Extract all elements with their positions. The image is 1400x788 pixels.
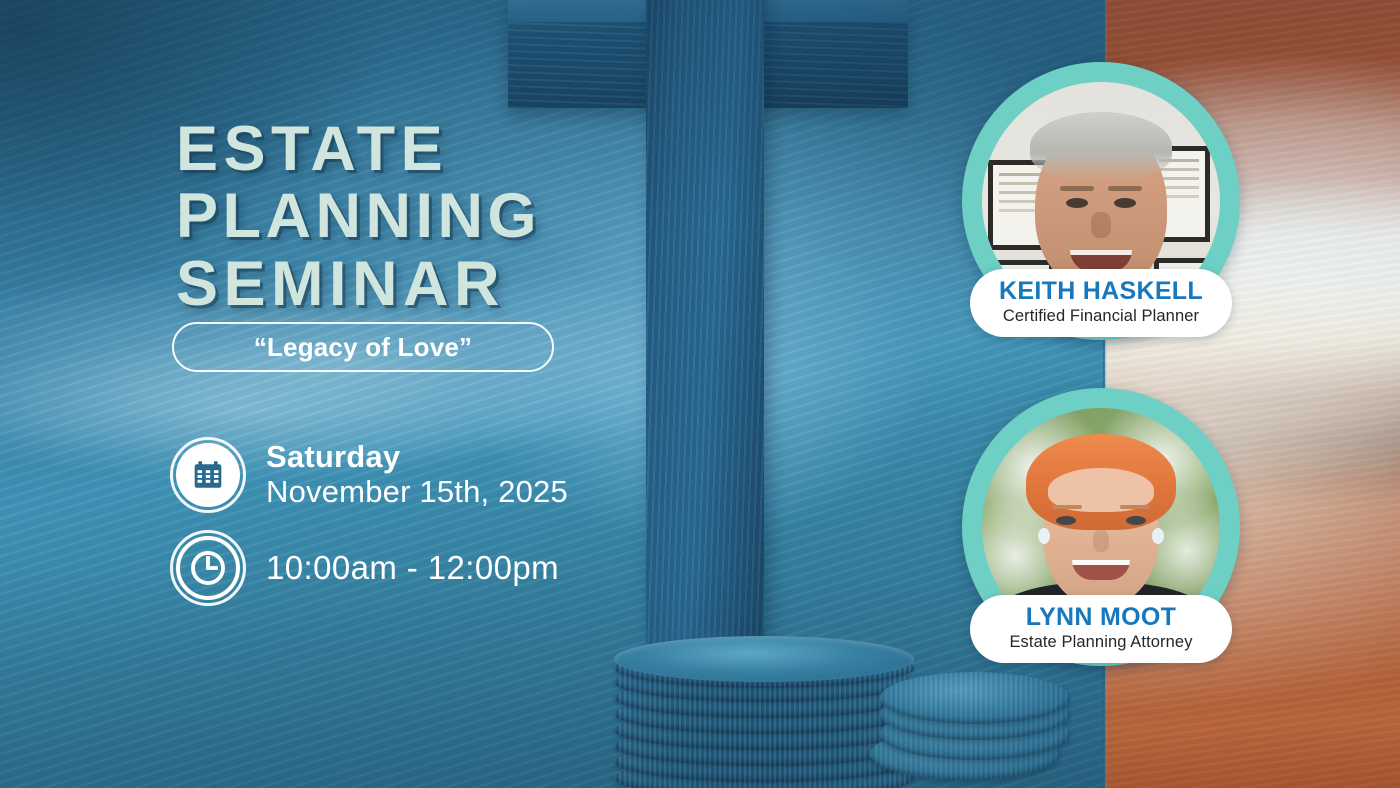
estate-planning-seminar-poster: ESTATE PLANNING SEMINAR “Legacy of Love” [0,0,1400,788]
speaker-title: Certified Financial Planner [980,307,1222,326]
avatar-hair [1030,112,1172,180]
avatar-nose [1091,212,1111,238]
tagline-pill: “Legacy of Love” [172,322,554,372]
avatar-earring [1038,528,1050,544]
event-date-full: November 15th, 2025 [266,475,568,510]
avatar-earring [1152,528,1164,544]
event-time-row: 10:00am - 12:00pm [176,536,559,600]
speaker-nameplate: LYNN MOOT Estate Planning Attorney [970,595,1232,663]
clock-icon [176,536,240,600]
avatar-eye [1056,516,1076,525]
avatar-nose [1093,530,1109,552]
speaker-card-keith-haskell: KEITH HASKELL Certified Financial Planne… [962,62,1240,340]
avatar-eye [1126,516,1146,525]
headline-line-3: SEMINAR [176,251,796,318]
avatar-eyebrow [1120,505,1150,509]
event-time-text: 10:00am - 12:00pm [266,549,559,587]
avatar-hair [1026,434,1176,530]
speaker-card-lynn-moot: LYNN MOOT Estate Planning Attorney [962,388,1240,666]
avatar-eyebrow [1108,186,1142,191]
event-day-of-week: Saturday [266,440,568,475]
speaker-title: Estate Planning Attorney [980,633,1222,652]
avatar-eye [1114,198,1136,208]
speaker-nameplate: KEITH HASKELL Certified Financial Planne… [970,269,1232,337]
headline-line-1: ESTATE [176,116,796,183]
event-date-text: Saturday November 15th, 2025 [266,440,568,509]
speaker-name: LYNN MOOT [980,604,1222,632]
calendar-icon [176,443,240,507]
avatar-eye [1066,198,1088,208]
speaker-name: KEITH HASKELL [980,278,1222,306]
event-date-row: Saturday November 15th, 2025 [176,440,568,509]
headline-line-2: PLANNING [176,183,796,250]
avatar-eyebrow [1052,505,1082,509]
page-title: ESTATE PLANNING SEMINAR [176,116,796,318]
tagline-text: “Legacy of Love” [254,332,472,363]
avatar-eyebrow [1060,186,1094,191]
